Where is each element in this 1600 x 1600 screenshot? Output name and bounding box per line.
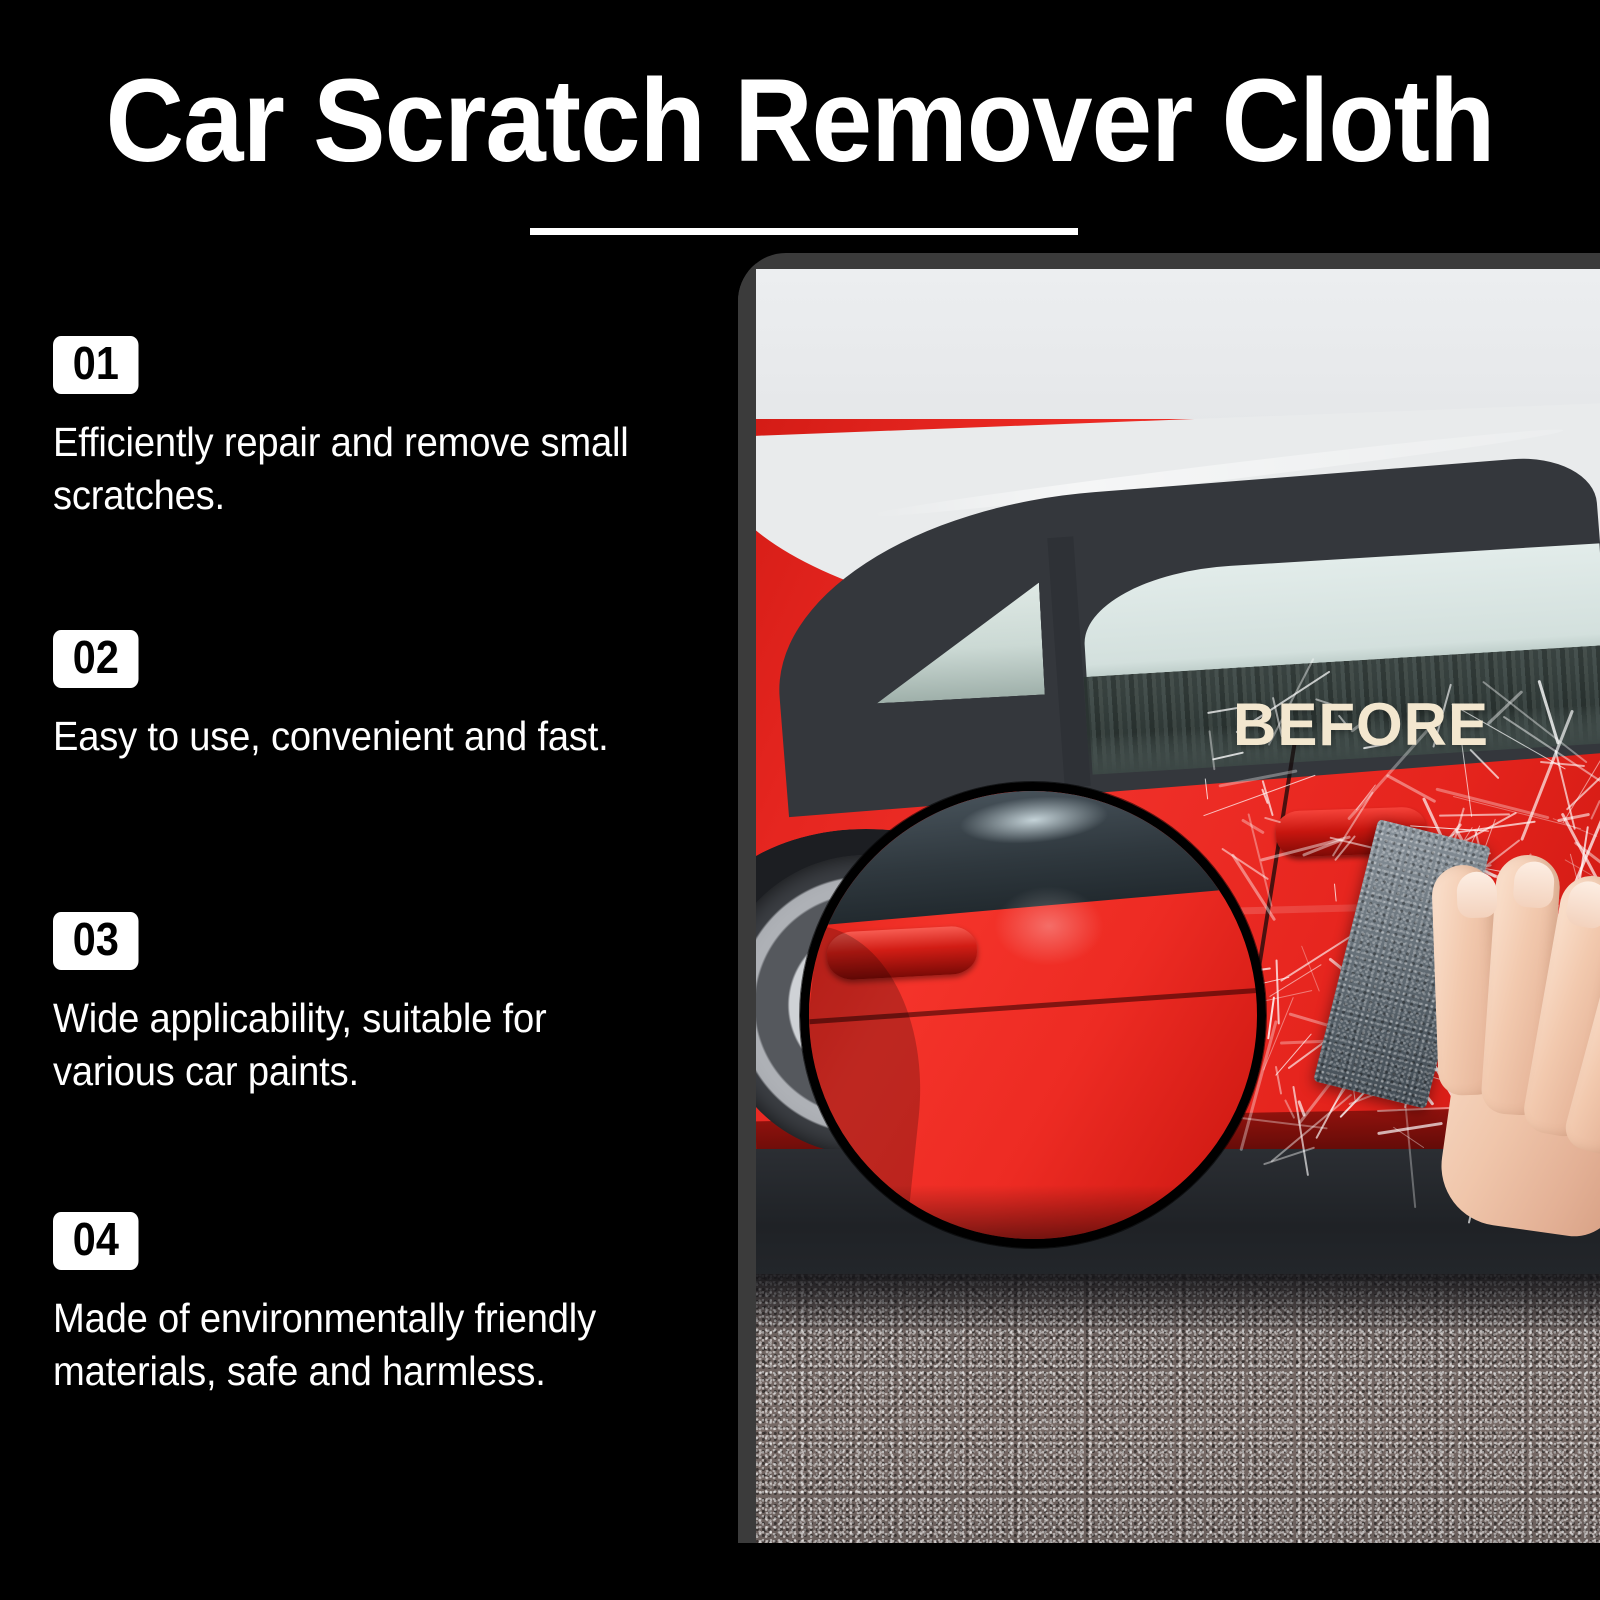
product-infographic: Car Scratch Remover Cloth 01 Efficiently… bbox=[0, 0, 1600, 1600]
before-label: BEFORE bbox=[1233, 695, 1489, 755]
road-shadow bbox=[756, 1274, 1600, 1334]
magnified-paint-reflection bbox=[994, 886, 1104, 966]
fingernail bbox=[1456, 871, 1498, 918]
product-photo: AFTER BEFORE bbox=[756, 269, 1600, 1543]
feature-description: Easy to use, convenient and fast. bbox=[53, 710, 667, 763]
feature-item: 01 Efficiently repair and remove small s… bbox=[53, 336, 713, 522]
magnifier-circle: AFTER bbox=[800, 782, 1266, 1248]
feature-item: 03 Wide applicability, suitable for vari… bbox=[53, 912, 713, 1098]
page-title: Car Scratch Remover Cloth bbox=[64, 62, 1536, 180]
feature-number-badge: 04 bbox=[53, 1212, 139, 1270]
feature-item: 04 Made of environmentally friendly mate… bbox=[53, 1212, 713, 1398]
magnified-bottom-shadow bbox=[809, 1185, 1266, 1245]
feature-number-badge: 01 bbox=[53, 336, 139, 394]
feature-description: Made of environmentally friendly materia… bbox=[53, 1292, 667, 1398]
product-photo-frame: AFTER BEFORE bbox=[738, 253, 1600, 1543]
fingernail bbox=[1512, 860, 1555, 909]
feature-description: Wide applicability, suitable for various… bbox=[53, 992, 667, 1098]
photo-frame-edge bbox=[738, 253, 756, 1543]
feature-description: Efficiently repair and remove small scra… bbox=[53, 416, 667, 522]
feature-number-badge: 02 bbox=[53, 630, 139, 688]
title-divider bbox=[530, 228, 1078, 235]
feature-number-badge: 03 bbox=[53, 912, 139, 970]
feature-item: 02 Easy to use, convenient and fast. bbox=[53, 630, 713, 763]
